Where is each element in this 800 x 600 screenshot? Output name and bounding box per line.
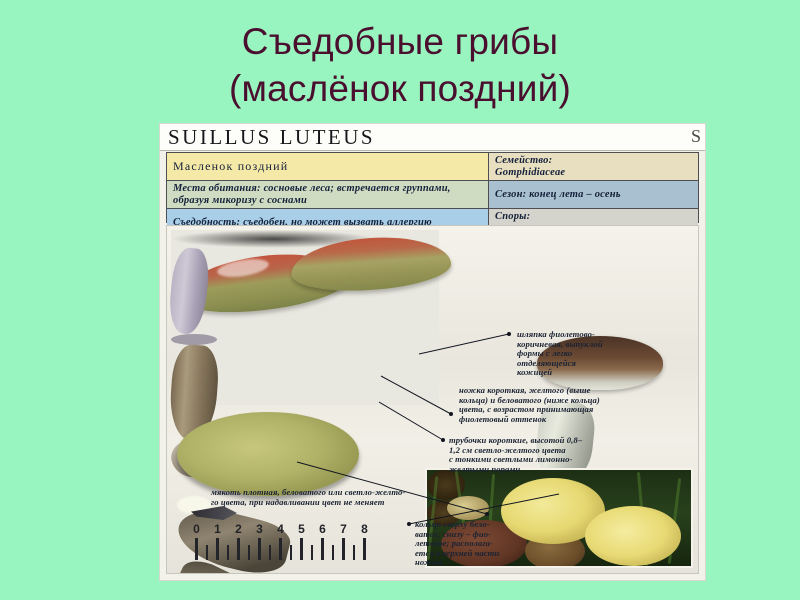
ruler-label: 1 <box>214 522 221 536</box>
ruler-tick-major <box>300 538 303 560</box>
ruler-tick-minor <box>269 545 271 560</box>
table-row: Места обитания: сосновые леса; встречает… <box>167 181 698 209</box>
common-name-value: Масленок поздний <box>173 161 288 173</box>
cell-season: Сезон: конец лета – осень <box>489 181 698 208</box>
ruler-tick-major <box>216 538 219 560</box>
ruler-tick-minor <box>227 545 229 560</box>
mushroom-pair-photo <box>171 230 439 405</box>
mushroom-underside-photo <box>177 412 389 540</box>
callout-bullet-stem <box>449 412 453 416</box>
season-value: конец лета – осень <box>529 189 621 200</box>
ruler-tick-minor <box>206 545 208 560</box>
ruler-label: 2 <box>235 522 242 536</box>
annotation-flesh: мякоть плотная, беловатого или светло-же… <box>211 488 493 507</box>
ruler-tick-minor <box>311 545 313 560</box>
callout-bullet-ring <box>407 522 411 526</box>
ruler-tick-major <box>342 538 345 560</box>
ruler-tick-minor <box>353 545 355 560</box>
ruler-tick-minor <box>290 545 292 560</box>
scale-ruler: 012345678 <box>185 522 367 560</box>
annotation-cap: шляпка фиолетово- коричневая, выпуклой ф… <box>517 330 695 378</box>
ruler-tick-minor <box>248 545 250 560</box>
illustration-plate: 012345678 шляпка фиолетово- коричневая, … <box>166 225 699 574</box>
ruler-label: 0 <box>193 522 200 536</box>
cell-family: Семейство:Gomphidiaceae <box>489 153 698 180</box>
ruler-tick-major <box>237 538 240 560</box>
callout-bullet-flesh <box>485 512 489 516</box>
habitat-label: Места обитания: <box>173 183 261 194</box>
species-info-table: Масленок поздний Семейство:Gomphidiaceae… <box>166 152 699 223</box>
ruler-tick-major <box>258 538 261 560</box>
ruler-label: 5 <box>298 522 305 536</box>
family-label: Семейство: <box>495 155 552 166</box>
mushroom-stem-left <box>167 246 212 335</box>
mushroom-cap-underside <box>177 412 359 496</box>
season-label: Сезон: <box>495 189 526 200</box>
cell-habitat: Места обитания: сосновые леса; встречает… <box>167 181 489 208</box>
ruler-label: 3 <box>256 522 263 536</box>
ruler-tick-major <box>321 538 324 560</box>
corner-mark: S <box>691 126 701 147</box>
ruler-label: 6 <box>319 522 326 536</box>
latin-name-band: SUILLUS LUTEUS S <box>160 124 705 151</box>
callout-bullet-cap <box>507 332 511 336</box>
page-title: Съедобные грибы (маслёнок поздний) <box>0 18 800 112</box>
mushroom-ring-left <box>171 334 217 345</box>
annotation-ring: кольцо сверху бело- ватое, снизу – фио- … <box>415 520 521 568</box>
mushroom-poster-image: SUILLUS LUTEUS S Масленок поздний Семейс… <box>160 124 705 580</box>
annotation-tubes: трубочки короткие, высотой 0,8– 1,2 см с… <box>449 436 697 474</box>
spores-label: Споры: <box>495 211 530 222</box>
latin-species-name: SUILLUS LUTEUS <box>168 125 375 150</box>
ruler-tick-major <box>195 538 198 560</box>
ruler-tick-major <box>279 538 282 560</box>
annotation-stem: ножка короткая, желтого (выше кольца) и … <box>459 386 697 424</box>
table-row: Масленок поздний Семейство:Gomphidiaceae <box>167 153 698 181</box>
ruler-label: 7 <box>340 522 347 536</box>
cell-common-name: Масленок поздний <box>167 153 489 180</box>
callout-bullet-tubes <box>441 438 445 442</box>
photo-mushroom-yellow-right <box>585 506 681 566</box>
ruler-tick-major <box>363 538 366 560</box>
ruler-label: 8 <box>361 522 368 536</box>
ruler-tick-minor <box>332 545 334 560</box>
ruler-label: 4 <box>277 522 284 536</box>
family-value: Gomphidiaceae <box>495 167 565 178</box>
